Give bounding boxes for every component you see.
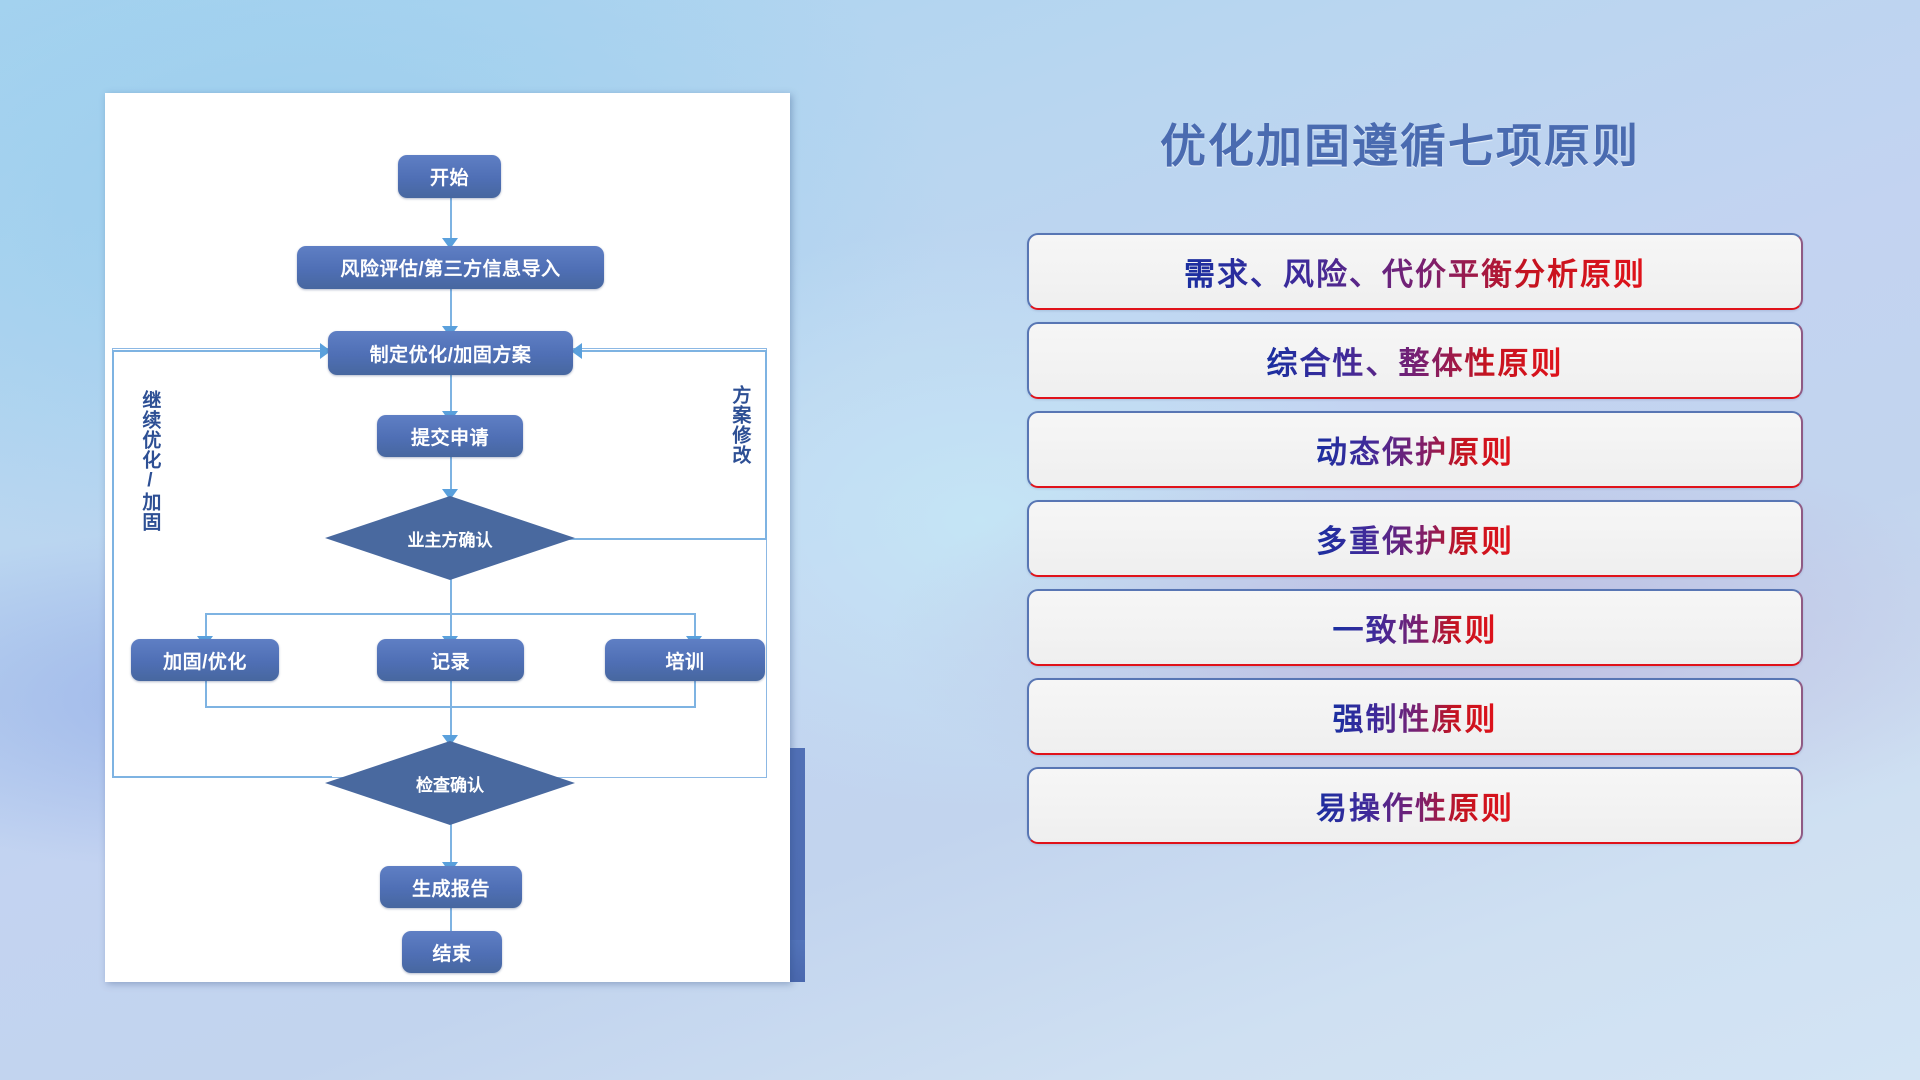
flow-node-submit-application[interactable]: 提交申请 [377,415,523,457]
principle-card-2[interactable]: 综合性、整体性原则 [1027,322,1803,399]
connector-left-loop-vertical [112,350,114,776]
principle-card-4[interactable]: 多重保护原则 [1027,500,1803,577]
principle-card-7-label: 易操作性原则 [1316,783,1514,828]
flow-node-generate-report[interactable]: 生成报告 [380,866,522,908]
connector-right-loop-vertical [765,350,767,539]
flow-node-submit-application-label: 提交申请 [411,423,489,450]
principle-card-6[interactable]: 强制性原则 [1027,678,1803,755]
flow-node-owner-confirm[interactable]: 业主方确认 [325,496,575,580]
flow-node-owner-confirm-label: 业主方确认 [325,496,575,580]
flow-node-end-label: 结束 [432,939,471,966]
connector-check-to-report [450,823,452,867]
connector-right-loop-top [580,350,766,352]
flow-node-risk-assessment[interactable]: 风险评估/第三方信息导入 [297,246,604,289]
edge-label-left-loop: 继续优化/加固 [140,390,159,532]
connector-record-down [450,679,452,740]
flow-node-start[interactable]: 开始 [398,155,501,198]
principle-card-2-label: 综合性、整体性原则 [1267,338,1564,383]
principle-card-3[interactable]: 动态保护原则 [1027,411,1803,488]
principle-card-5-label: 一致性原则 [1333,605,1498,650]
principle-card-3-label: 动态保护原则 [1316,427,1514,472]
flow-node-reinforce[interactable]: 加固/优化 [131,639,279,681]
connector-reinforce-down [205,679,207,707]
flow-node-plan-label: 制定优化/加固方案 [370,340,532,367]
flow-node-plan[interactable]: 制定优化/加固方案 [328,331,573,375]
flow-node-training[interactable]: 培训 [605,639,765,681]
principle-card-7[interactable]: 易操作性原则 [1027,767,1803,844]
principles-title: 优化加固遵循七项原则 [1000,110,1800,176]
connector-plan-to-submit [450,372,452,416]
flow-node-generate-report-label: 生成报告 [412,874,490,901]
flow-node-check-confirm-label: 检查确认 [325,741,575,825]
flow-node-reinforce-label: 加固/优化 [163,647,247,674]
connector-confirm-down [450,578,452,614]
flow-node-record-label: 记录 [431,647,470,674]
edge-label-right-loop: 方案修改 [730,385,749,465]
flow-node-check-confirm[interactable]: 检查确认 [325,741,575,825]
principle-card-1[interactable]: 需求、风险、代价平衡分析原则 [1027,233,1803,310]
principle-card-4-label: 多重保护原则 [1316,516,1514,561]
principle-card-1-label: 需求、风险、代价平衡分析原则 [1184,249,1646,294]
principles-list: 需求、风险、代价平衡分析原则 综合性、整体性原则 动态保护原则 多重保护原则 一… [1027,233,1803,844]
connector-submit-to-confirm [450,454,452,494]
principle-card-6-label: 强制性原则 [1333,694,1498,739]
connector-left-loop-bottom [112,776,332,778]
flow-node-end[interactable]: 结束 [402,931,502,973]
connector-training-down [694,679,696,707]
connector-risk-to-plan [450,285,452,331]
flow-node-training-label: 培训 [665,647,704,674]
connector-left-loop-top [112,350,323,352]
flow-node-risk-assessment-label: 风险评估/第三方信息导入 [340,254,560,281]
principle-card-5[interactable]: 一致性原则 [1027,589,1803,666]
flow-node-record[interactable]: 记录 [377,639,524,681]
flow-node-start-label: 开始 [430,163,469,190]
connector-start-to-risk [450,195,452,243]
